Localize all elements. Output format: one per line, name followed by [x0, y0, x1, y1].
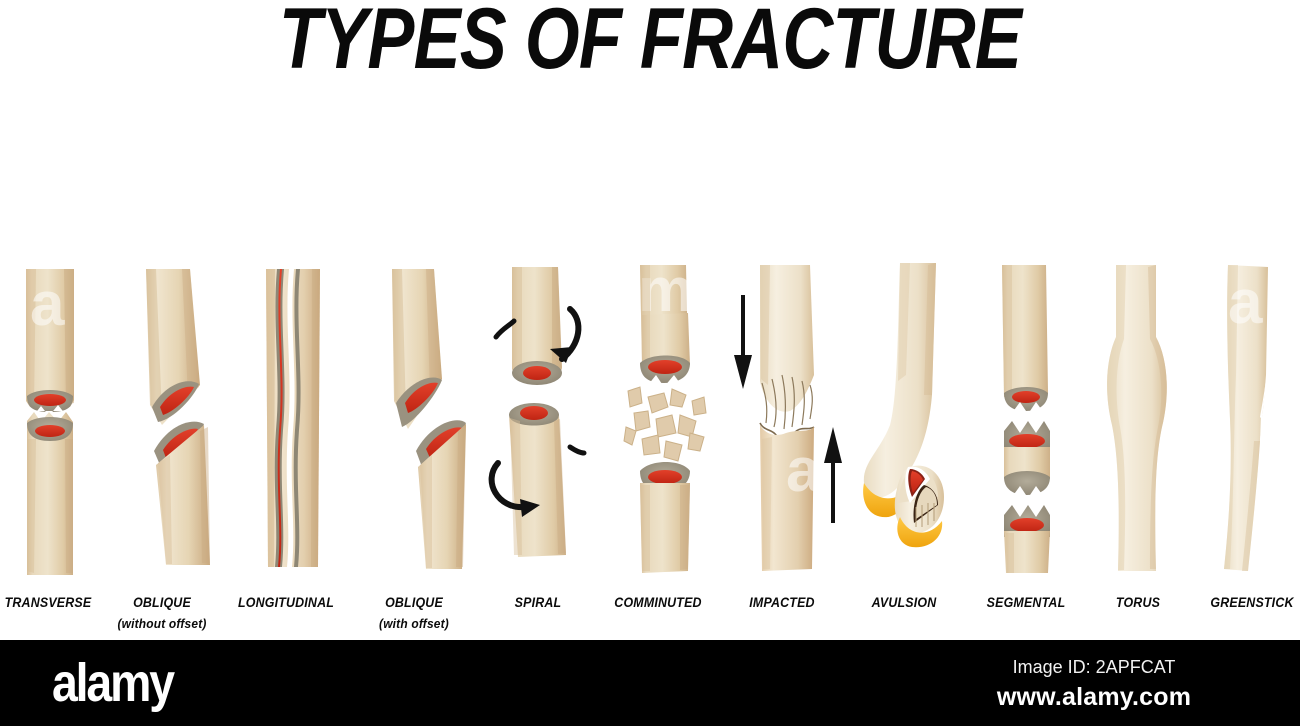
- label-row: TRANSVERSE OBLIQUE (without offset) LONG…: [0, 592, 1300, 640]
- watermark-letter: a: [786, 436, 821, 505]
- label-oblique-with-offset: OBLIQUE (with offset): [350, 592, 479, 634]
- label-transverse-main: TRANSVERSE: [5, 595, 92, 610]
- bone-shaft-avulsion: [864, 263, 936, 498]
- figure-oblique-with-offset: [372, 255, 482, 585]
- label-segmental: SEGMENTAL: [962, 592, 1091, 614]
- fracture-types-poster: TYPES OF FRACTURE: [0, 0, 1300, 726]
- segment-middle: [1004, 421, 1050, 498]
- label-oblique-without-offset: OBLIQUE (without offset): [98, 592, 227, 634]
- avulsed-fragment: [895, 466, 944, 548]
- website-url[interactable]: www.alamy.com: [934, 681, 1254, 715]
- figure-comminuted: m: [612, 255, 722, 585]
- label-transverse: TRANSVERSE: [0, 592, 112, 614]
- figure-longitudinal: [248, 255, 358, 585]
- label-segmental-main: SEGMENTAL: [987, 595, 1066, 610]
- label-oblique-with-offset-main: OBLIQUE: [385, 595, 443, 610]
- watermark-footer-bar: alamy Image ID: 2APFCAT www.alamy.com: [0, 640, 1300, 726]
- image-id-text: Image ID: 2APFCAT: [934, 654, 1254, 681]
- figure-strip: a: [0, 255, 1300, 585]
- bone-upper-impacted: [760, 265, 814, 412]
- label-impacted-main: IMPACTED: [749, 595, 814, 610]
- label-oblique-without-offset-main: OBLIQUE: [133, 595, 191, 610]
- bone-shadow-longitudinal: [311, 269, 320, 567]
- page-title: TYPES OF FRACTURE: [117, 0, 1183, 84]
- figure-transverse: a: [0, 255, 100, 585]
- label-oblique-with-offset-sub: (with offset): [350, 614, 479, 635]
- label-torus: TORUS: [1074, 592, 1203, 614]
- bone-upper-oblique-offset: [392, 269, 442, 429]
- bone-lower-spiral: [509, 403, 566, 557]
- bone-upper-spiral: [512, 267, 562, 385]
- fracture-site-upper-transverse: [27, 390, 73, 416]
- label-avulsion-main: AVULSION: [872, 595, 937, 610]
- bone-fragments: [624, 387, 706, 461]
- label-greenstick: GREENSTICK: [1188, 592, 1300, 614]
- label-torus-main: TORUS: [1116, 595, 1160, 610]
- label-spiral: SPIRAL: [474, 592, 603, 614]
- label-comminuted: COMMINUTED: [594, 592, 723, 614]
- figure-impacted: a: [728, 255, 848, 585]
- marrow-lower: [520, 406, 548, 420]
- label-longitudinal-main: LONGITUDINAL: [238, 595, 334, 610]
- segment-bottom: [1004, 505, 1050, 573]
- watermark-letter: a: [30, 270, 65, 339]
- label-oblique-without-offset-sub: (without offset): [98, 614, 227, 635]
- bone-lower-transverse: [27, 412, 73, 575]
- label-greenstick-main: GREENSTICK: [1210, 595, 1293, 610]
- figure-oblique-without-offset: [122, 255, 232, 585]
- bone-lower-impacted: a: [760, 425, 821, 571]
- figure-torus: [1090, 255, 1190, 585]
- figure-avulsion: [852, 255, 972, 585]
- label-comminuted-main: COMMINUTED: [614, 595, 701, 610]
- figure-greenstick: a: [1204, 255, 1300, 585]
- figure-segmental: [982, 255, 1082, 585]
- bone-lower-oblique-offset: [416, 420, 466, 569]
- label-spiral-main: SPIRAL: [515, 595, 562, 610]
- compression-arrow-up: [824, 427, 842, 523]
- marrow-upper: [523, 366, 551, 380]
- label-longitudinal: LONGITUDINAL: [222, 592, 351, 614]
- compression-arrow-down: [734, 295, 752, 389]
- bone-shaft-torus: [1107, 265, 1167, 571]
- footer-right-block: Image ID: 2APFCAT www.alamy.com: [934, 654, 1254, 715]
- bone-upper-comminuted: m: [638, 256, 693, 387]
- bone-lower-comminuted: [640, 462, 690, 573]
- label-avulsion: AVULSION: [840, 592, 969, 614]
- bone-upper-transverse: a: [26, 269, 74, 407]
- label-impacted: IMPACTED: [718, 592, 847, 614]
- segment-top: [1002, 265, 1048, 414]
- alamy-logo[interactable]: alamy: [52, 656, 173, 710]
- figure-spiral: [484, 255, 604, 585]
- watermark-letter: a: [1228, 268, 1263, 337]
